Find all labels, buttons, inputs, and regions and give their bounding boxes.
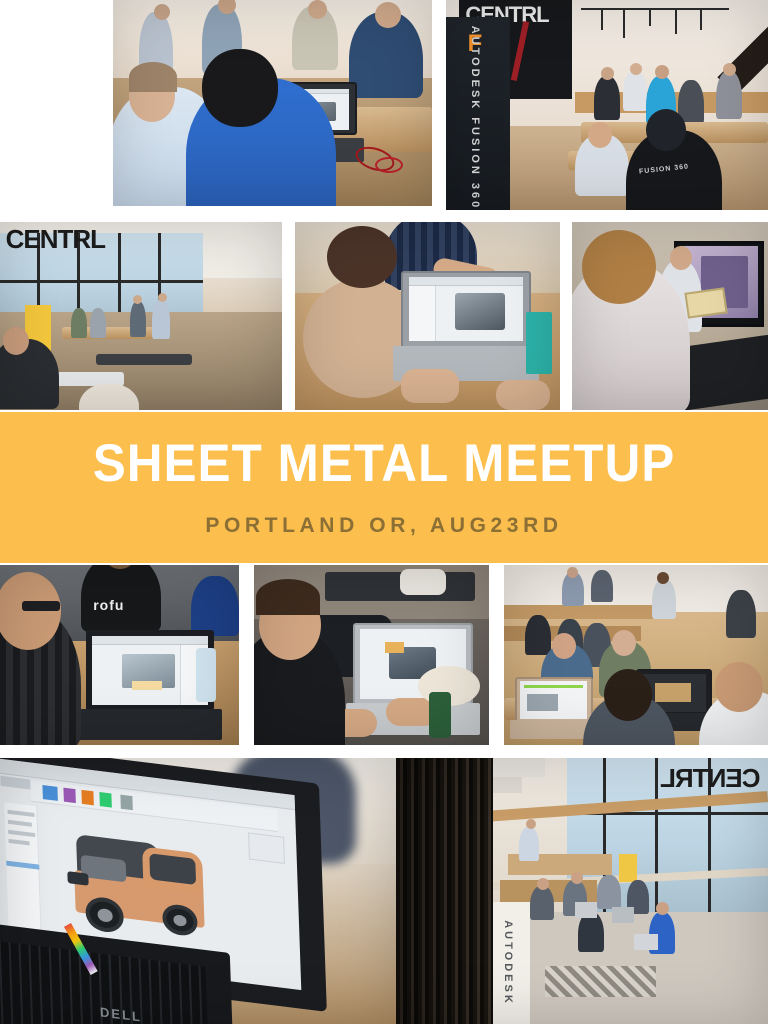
photo-tile-8: [504, 565, 768, 745]
event-subtitle: PORTLAND OR, AUG23RD: [205, 514, 562, 538]
photo-tile-5: [572, 222, 768, 410]
photo-tile-7: [254, 565, 489, 745]
poster-canvas: CENTRL: [0, 0, 768, 1024]
photo-tile-10: CENTRL: [396, 758, 768, 1024]
photo-tile-4: [295, 222, 560, 410]
photo-tile-6: rofu: [0, 565, 239, 745]
photo-tile-9: DELL: [0, 758, 396, 1024]
photo-tile-2: CENTRL: [446, 0, 768, 210]
event-banner: SHEET METAL MEETUP PORTLAND OR, AUG23RD: [0, 412, 768, 563]
photo-tile-3: CENTRL: [0, 222, 282, 410]
event-title: SHEET METAL MEETUP: [93, 437, 675, 490]
photo-tile-1: [113, 0, 432, 206]
